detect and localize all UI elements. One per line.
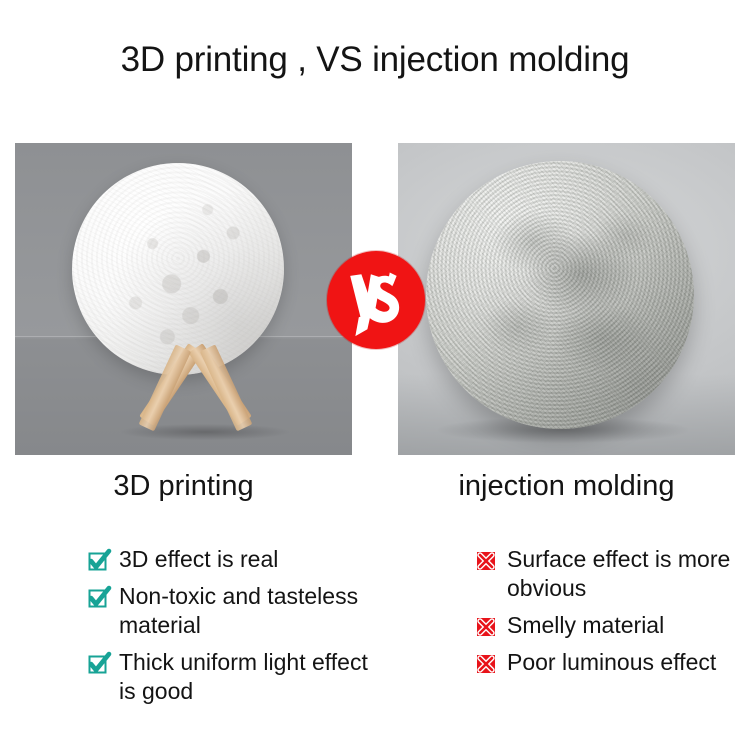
feature-list-injection-molding: Surface effect is more obvious Smelly ma… [474, 545, 750, 685]
cross-box-icon [474, 548, 500, 574]
list-item-label: Smelly material [507, 611, 664, 640]
cross-box-icon [474, 651, 500, 677]
product-photo-3d-printing [15, 143, 352, 455]
list-item: Thick uniform light effect is good [86, 648, 376, 706]
list-item-label: Surface effect is more obvious [507, 545, 750, 603]
caption-injection-molding: injection molding [398, 470, 735, 503]
check-box-icon [86, 585, 112, 611]
list-item: Smelly material [474, 611, 750, 640]
list-item: Surface effect is more obvious [474, 545, 750, 603]
stand-leg [200, 344, 253, 431]
list-item-label: Thick uniform light effect is good [119, 648, 376, 706]
wooden-stand [135, 348, 265, 433]
list-item: Poor luminous effect [474, 648, 750, 677]
molded-sphere [426, 161, 694, 429]
moon-lamp-sphere [72, 163, 284, 375]
list-item-label: Poor luminous effect [507, 648, 716, 677]
list-item: Non-toxic and tasteless material [86, 582, 376, 640]
cross-box-icon [474, 614, 500, 640]
stand-leg [139, 344, 192, 431]
list-item-label: Non-toxic and tasteless material [119, 582, 376, 640]
list-item: 3D effect is real [86, 545, 376, 574]
page-title: 3D printing , VS injection molding [0, 40, 750, 80]
list-item-label: 3D effect is real [119, 545, 278, 574]
feature-list-3d-printing: 3D effect is real Non-toxic and tasteles… [86, 545, 376, 714]
caption-3d-printing: 3D printing [15, 470, 352, 503]
check-box-icon [86, 651, 112, 677]
product-photo-injection-molding [398, 143, 735, 455]
check-box-icon [86, 548, 112, 574]
vs-badge-icon [327, 251, 425, 349]
